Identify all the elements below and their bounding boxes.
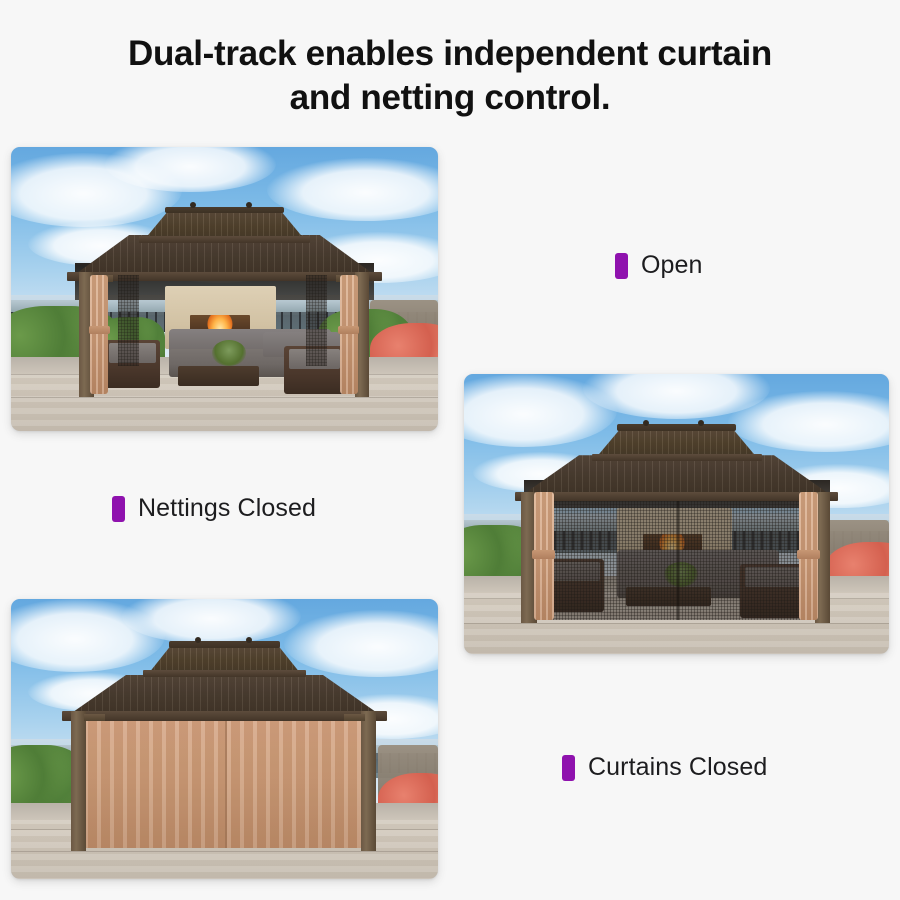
- label-open: Open: [615, 251, 703, 280]
- coffee-table: [178, 366, 259, 386]
- bullet-marker-icon: [615, 253, 628, 279]
- gazebo-upper-eave: [592, 454, 762, 461]
- gazebo-post-right: [361, 711, 376, 851]
- gazebo-photo-nettings-closed[interactable]: [464, 374, 889, 654]
- gazebo-roof-cap: [617, 424, 736, 431]
- netting-gathered-right: [306, 275, 327, 366]
- gazebo-scene-curtains-closed: [11, 599, 438, 879]
- curtain-center-seam: [225, 708, 227, 848]
- gazebo-roof-cap: [165, 207, 285, 214]
- gazebo-eave: [62, 711, 387, 721]
- roof-finial: [246, 637, 252, 643]
- corner-brace: [344, 714, 365, 721]
- corner-brace: [84, 714, 105, 721]
- roof-finial: [643, 420, 649, 426]
- curtain-tied-left: [90, 275, 108, 394]
- page-title-line-1: Dual-track enables independent curtain: [60, 32, 840, 76]
- gazebo-roof-cap: [169, 641, 280, 648]
- gazebo-photo-curtains-closed[interactable]: [11, 599, 438, 879]
- label-nettings-closed-text: Nettings Closed: [138, 494, 316, 523]
- gazebo-post-left: [71, 711, 86, 851]
- label-curtains-closed-text: Curtains Closed: [588, 753, 767, 782]
- deck-seam: [464, 623, 889, 624]
- curtain-tieback: [89, 326, 110, 335]
- deck-seam: [11, 851, 438, 852]
- bullet-marker-icon: [112, 496, 125, 522]
- gazebo-upper-eave: [139, 236, 310, 243]
- gazebo-photo-open[interactable]: [11, 147, 438, 431]
- curtain-tieback: [338, 326, 359, 335]
- label-curtains-closed: Curtains Closed: [562, 753, 767, 782]
- page-title-line-2: and netting control.: [60, 76, 840, 120]
- label-open-text: Open: [641, 251, 703, 280]
- flower-arrangement: [212, 340, 246, 366]
- curtain-tied-right: [340, 275, 358, 394]
- curtain-tieback: [797, 550, 820, 558]
- product-feature-page: Dual-track enables independent curtain a…: [0, 0, 900, 900]
- label-nettings-closed: Nettings Closed: [112, 494, 316, 523]
- gazebo-eave: [515, 492, 838, 501]
- gazebo-upper-eave: [143, 670, 305, 677]
- curtain-tieback: [532, 550, 555, 558]
- netting-gathered-left: [118, 275, 139, 366]
- deck-seam: [11, 397, 438, 398]
- netting-center-seam: [677, 489, 679, 621]
- roof-finial: [195, 637, 201, 643]
- bullet-marker-icon: [562, 755, 575, 781]
- page-title: Dual-track enables independent curtain a…: [0, 32, 900, 120]
- gazebo-scene-nettings-closed: [464, 374, 889, 654]
- roof-finial: [698, 420, 704, 426]
- gazebo-scene-open: [11, 147, 438, 431]
